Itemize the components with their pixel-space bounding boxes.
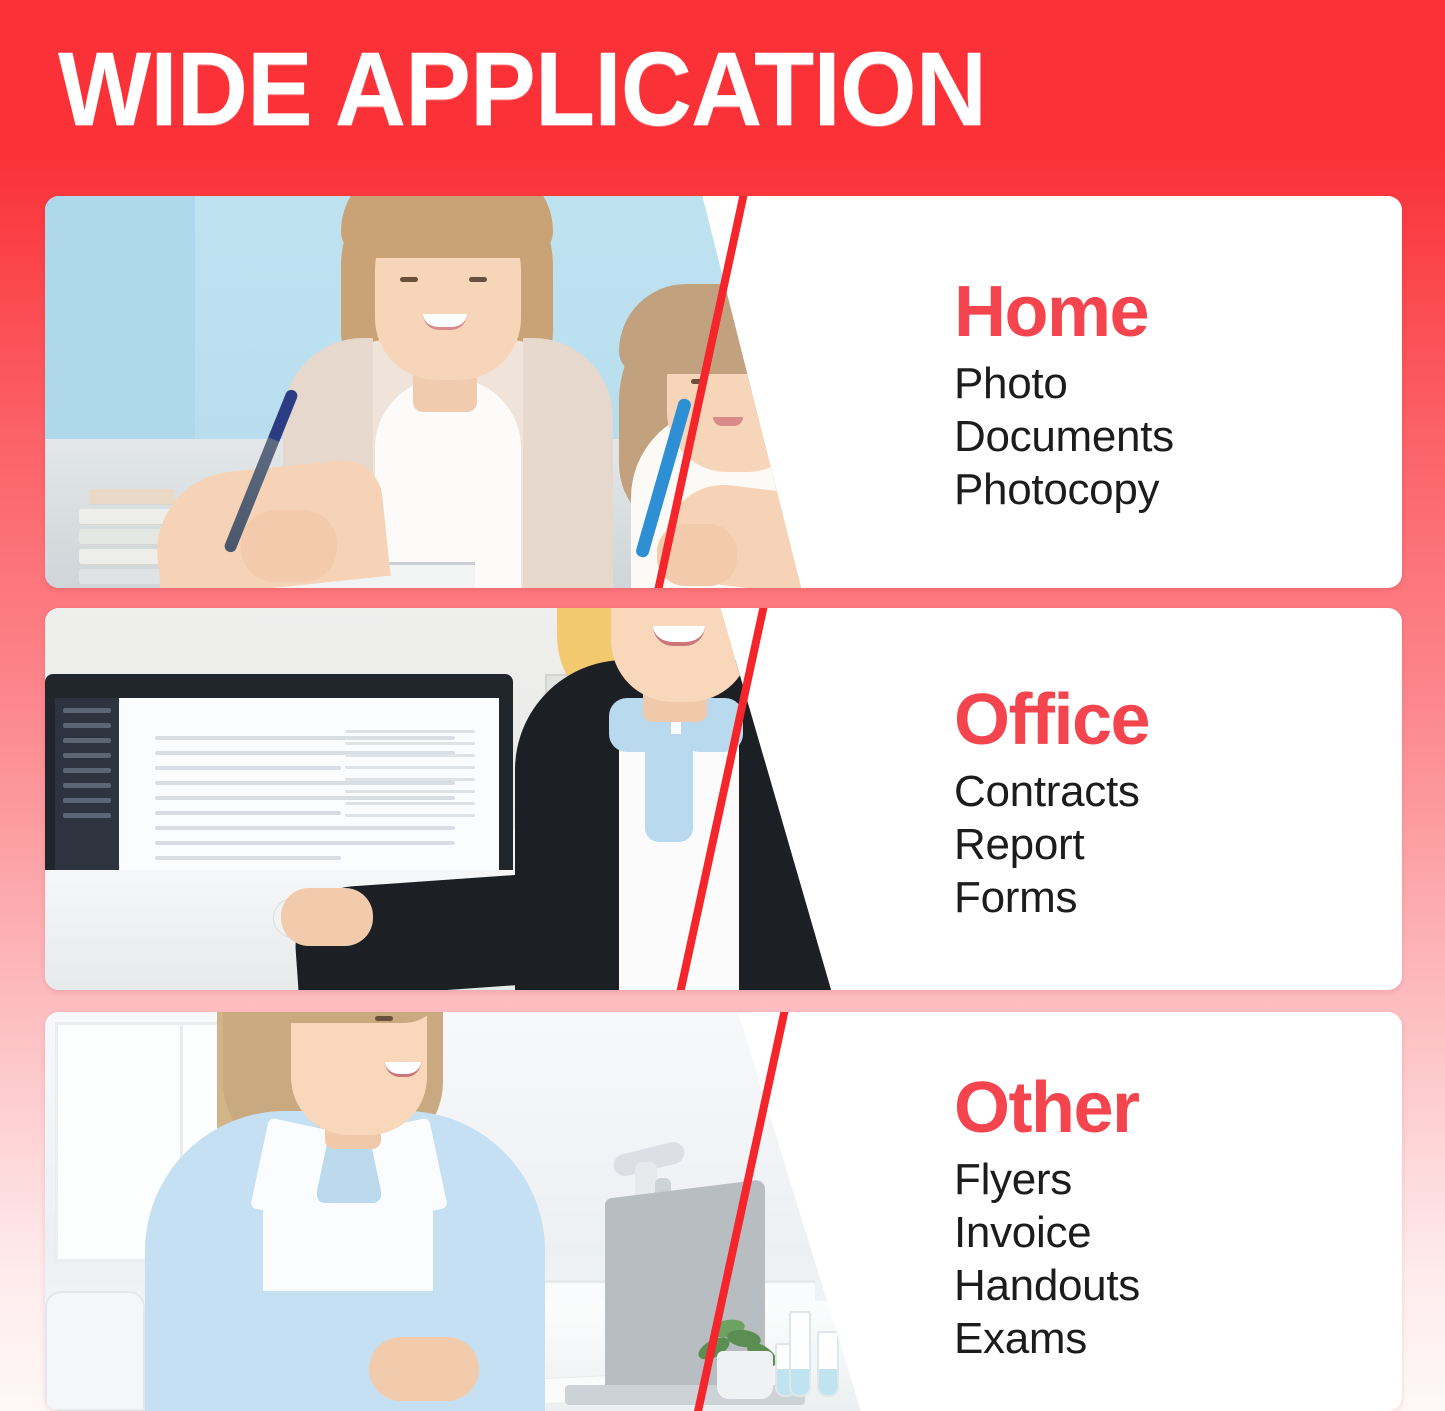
list-item: Exams <box>954 1312 1402 1365</box>
card-text-pane-home: Home Photo Documents Photocopy <box>882 196 1402 588</box>
adult-hair-front <box>341 196 553 258</box>
card-title-home: Home <box>954 273 1402 351</box>
test-tube <box>817 1331 839 1397</box>
card-photo-home <box>45 196 805 588</box>
adult-eye-right <box>469 277 487 282</box>
list-item: Invoice <box>954 1206 1402 1259</box>
lab-worker-eye <box>375 1016 393 1021</box>
list-item: Forms <box>954 871 1402 924</box>
lab-worker-hands <box>369 1337 479 1401</box>
list-item: Handouts <box>954 1259 1402 1312</box>
wide-application-infographic: WIDE APPLICATION <box>0 0 1445 1411</box>
adult-hand <box>241 510 337 582</box>
application-card-home: Home Photo Documents Photocopy <box>45 196 1402 588</box>
application-card-office: Office Contracts Report Forms <box>45 608 1402 990</box>
wall-accent <box>45 196 195 439</box>
card-list-office: Contracts Report Forms <box>954 765 1402 924</box>
card-text-pane-other: Other Flyers Invoice Handouts Exams <box>882 1012 1402 1411</box>
card-list-other: Flyers Invoice Handouts Exams <box>954 1153 1402 1365</box>
adult-cardigan-right <box>523 338 613 588</box>
test-tube <box>789 1311 811 1397</box>
list-item: Flyers <box>954 1153 1402 1206</box>
child-smile <box>713 417 743 426</box>
document-side-column <box>345 730 475 826</box>
card-list-home: Photo Documents Photocopy <box>954 357 1402 516</box>
worker-hand <box>281 888 373 946</box>
page-title: WIDE APPLICATION <box>58 34 1186 154</box>
list-item: Photo <box>954 357 1402 410</box>
card-title-office: Office <box>954 681 1402 759</box>
adult-eye-left <box>400 277 418 282</box>
card-title-other: Other <box>954 1069 1402 1147</box>
application-card-other: Other Flyers Invoice Handouts Exams <box>45 1012 1402 1411</box>
illustration-home-tutoring <box>45 196 805 588</box>
list-item: Report <box>954 818 1402 871</box>
card-photo-office <box>45 608 835 990</box>
plant-pot <box>717 1351 773 1399</box>
list-item: Documents <box>954 410 1402 463</box>
card-text-pane-office: Office Contracts Report Forms <box>882 608 1402 990</box>
lab-worker-hair-front <box>223 1012 443 1023</box>
illustration-office-worker <box>45 608 835 990</box>
list-item: Contracts <box>954 765 1402 818</box>
lab-chair <box>45 1291 145 1411</box>
child-eye-right <box>757 379 773 384</box>
list-item: Photocopy <box>954 463 1402 516</box>
